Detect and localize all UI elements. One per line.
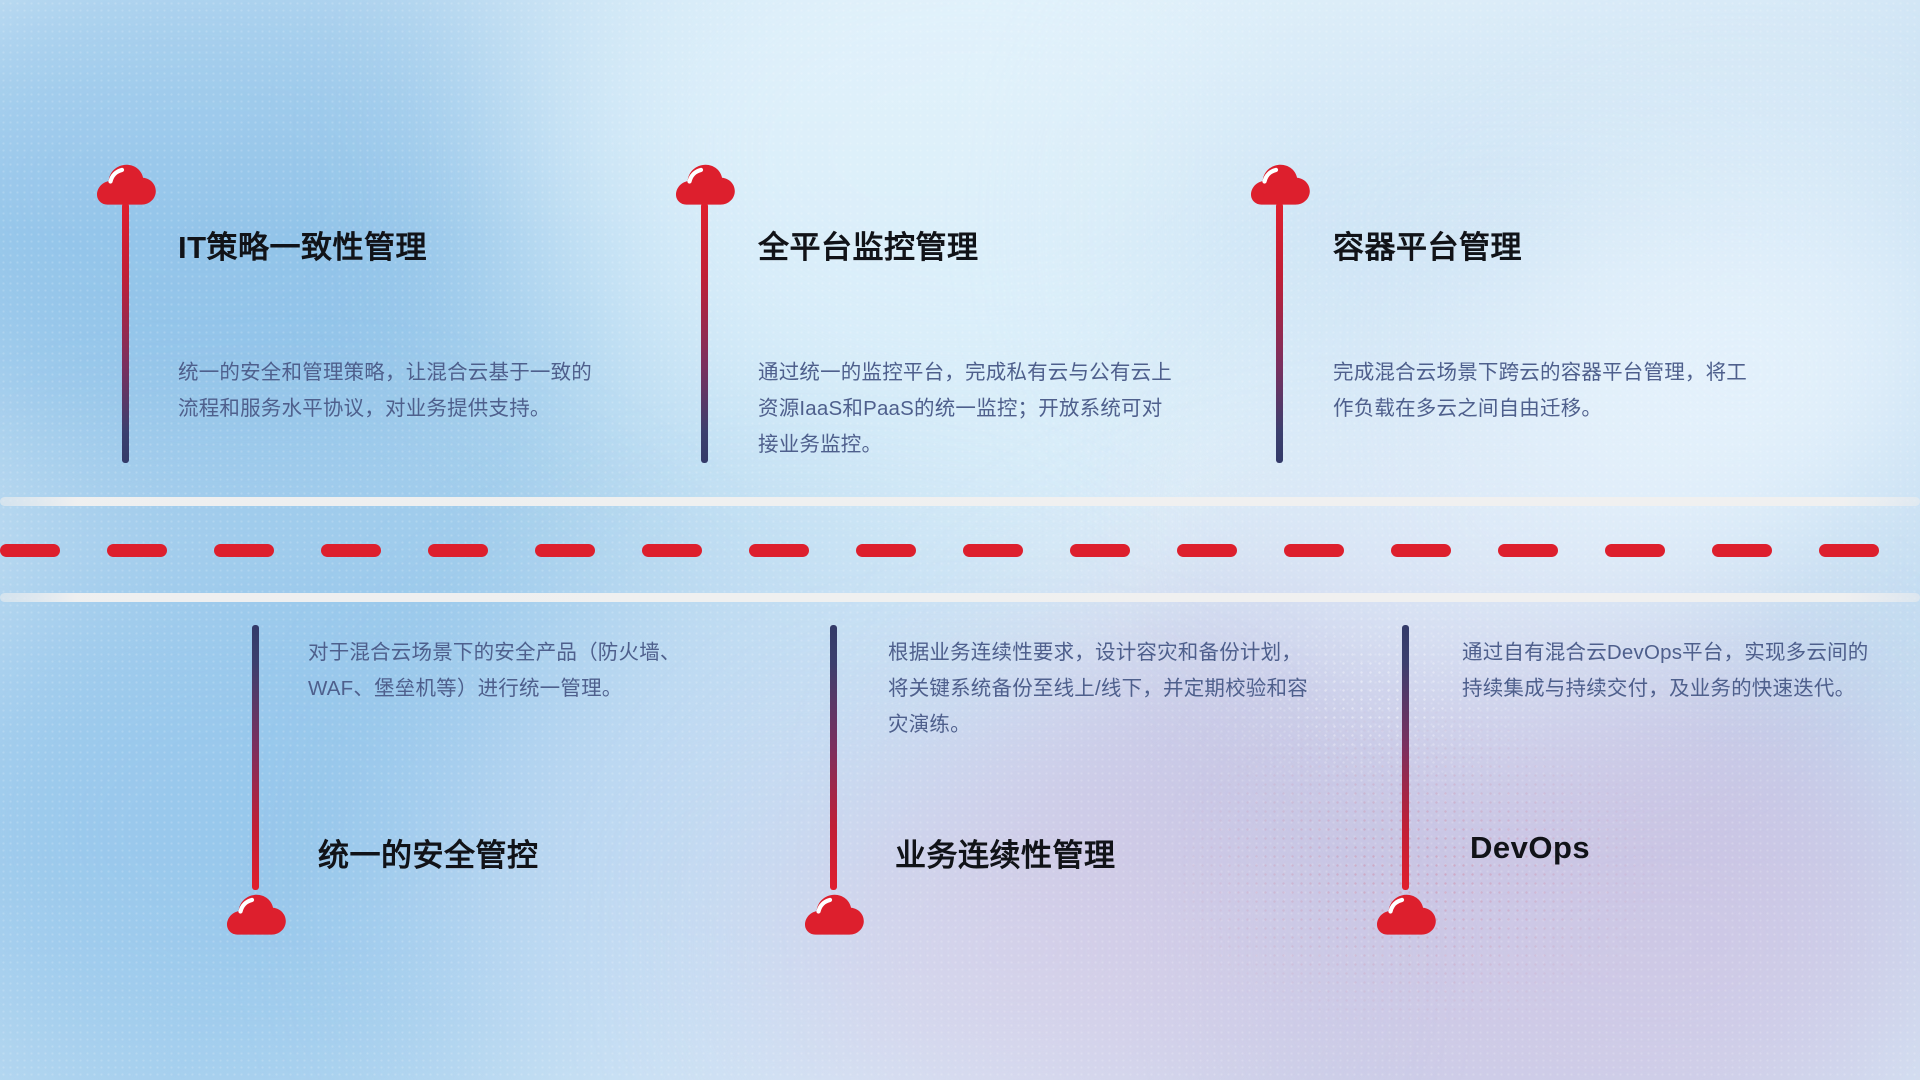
cloud-icon — [96, 160, 158, 208]
divider-dash — [856, 544, 916, 557]
connector-line — [122, 203, 129, 463]
divider-dash — [1498, 544, 1558, 557]
card-body: 通过统一的监控平台，完成私有云与公有云上资源IaaS和PaaS的统一监控；开放系… — [758, 355, 1183, 463]
card-body: 统一的安全和管理策略，让混合云基于一致的流程和服务水平协议，对业务提供支持。 — [178, 355, 603, 427]
divider-dash — [535, 544, 595, 557]
card-title: IT策略一致性管理 — [178, 222, 427, 267]
card-body: 对于混合云场景下的安全产品（防火墙、WAF、堡垒机等）进行统一管理。 — [308, 635, 733, 707]
cloud-icon — [1376, 890, 1438, 938]
divider-dash — [0, 544, 60, 557]
connector-line — [701, 203, 708, 463]
card-body: 通过自有混合云DevOps平台，实现多云间的持续集成与持续交付，及业务的快速迭代… — [1462, 635, 1887, 707]
card-title: 容器平台管理 — [1333, 222, 1522, 267]
infographic-canvas: IT策略一致性管理 统一的安全和管理策略，让混合云基于一致的流程和服务水平协议，… — [0, 0, 1920, 1080]
card-title: 全平台监控管理 — [758, 222, 979, 267]
cloud-icon — [1250, 160, 1312, 208]
card-body: 完成混合云场景下跨云的容器平台管理，将工作负载在多云之间自由迁移。 — [1333, 355, 1758, 427]
connector-line — [252, 625, 259, 890]
card-title: 统一的安全管控 — [318, 830, 539, 875]
connector-line — [1276, 203, 1283, 463]
card-title: DevOps — [1470, 830, 1590, 866]
divider-dash — [1284, 544, 1344, 557]
divider-rail-top — [0, 497, 1920, 506]
divider-dash — [428, 544, 488, 557]
divider-dash — [1605, 544, 1665, 557]
cloud-icon — [226, 890, 288, 938]
connector-line — [1402, 625, 1409, 890]
divider-dash — [1819, 544, 1879, 557]
divider-dash — [321, 544, 381, 557]
red-dashed-divider — [0, 543, 1920, 557]
divider-dash — [1070, 544, 1130, 557]
card-body: 根据业务连续性要求，设计容灾和备份计划，将关键系统备份至线上/线下，并定期校验和… — [888, 635, 1313, 743]
cloud-icon — [675, 160, 737, 208]
divider-dash — [214, 544, 274, 557]
connector-line — [830, 625, 837, 890]
divider-dash — [1391, 544, 1451, 557]
divider-dash — [749, 544, 809, 557]
divider-dash — [963, 544, 1023, 557]
background-sheen — [0, 0, 1920, 1080]
cloud-icon — [804, 890, 866, 938]
divider-dash — [107, 544, 167, 557]
divider-dash — [642, 544, 702, 557]
divider-dash — [1177, 544, 1237, 557]
card-title: 业务连续性管理 — [895, 830, 1116, 875]
divider-dash — [1712, 544, 1772, 557]
divider-rail-bottom — [0, 593, 1920, 602]
